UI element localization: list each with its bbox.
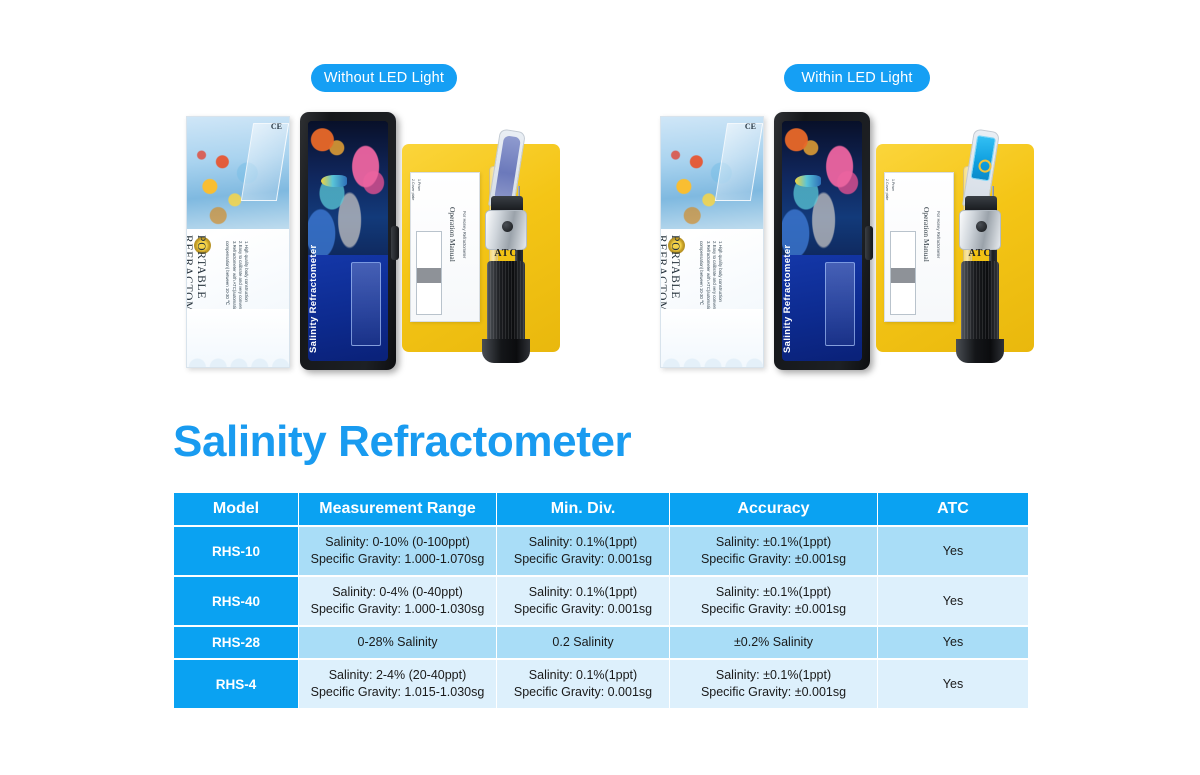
refractometer-device: ATC xyxy=(942,130,1016,370)
cell-min-div: 0.2 Salinity xyxy=(497,627,669,658)
cell-measurement-range: Salinity: 2-4% (20-40ppt) Specific Gravi… xyxy=(299,660,496,708)
case-latch-icon xyxy=(865,226,873,260)
cell-measurement-range: Salinity: 0-10% (0-100ppt) Specific Grav… xyxy=(299,527,496,575)
variant-badges-row: Without LED Light Within LED Light xyxy=(0,64,1200,94)
case-label-diagram xyxy=(351,262,381,346)
rubber-grip xyxy=(487,261,525,343)
manual-bullet-list: 1.Prism 2.Cover plate 3.Calibration scre… xyxy=(410,179,421,210)
reef-box-artwork xyxy=(187,117,290,229)
carry-case: Salinity Refractometer xyxy=(300,112,396,370)
case-label-text: Salinity Refractometer xyxy=(782,244,793,353)
manual-bullet-list: 1.Prism 2.Cover plate 3.Calibration scre… xyxy=(884,179,895,210)
eyepiece-base xyxy=(482,339,530,363)
manual-title: Operation Manual xyxy=(448,207,457,262)
specification-table: Model Measurement Range Min. Div. Accura… xyxy=(173,491,1029,710)
case-latch-icon xyxy=(391,226,399,260)
coral-reef-image xyxy=(308,121,388,255)
atc-marking: ATC xyxy=(485,248,527,259)
cell-atc: Yes xyxy=(878,627,1028,658)
eyepiece-base xyxy=(956,339,1004,363)
case-label-text: Salinity Refractometer xyxy=(308,244,319,353)
tropical-fish-icon xyxy=(795,175,821,187)
manual-diagram-icon xyxy=(416,231,442,315)
calibration-screw-icon xyxy=(976,221,987,232)
table-row: RHS-4 Salinity: 2-4% (20-40ppt) Specific… xyxy=(174,660,1028,708)
column-header-model: Model xyxy=(174,493,298,525)
retail-box: CE PORTABLE REFRACTOMETER 1.High quality… xyxy=(186,116,290,368)
reef-box-artwork xyxy=(661,117,764,229)
badge-within-led: Within LED Light xyxy=(784,64,930,92)
table-row: RHS-28 0-28% Salinity 0.2 Salinity ±0.2%… xyxy=(174,627,1028,658)
led-light-module-icon xyxy=(970,135,996,181)
table-row: RHS-40 Salinity: 0-4% (0-40ppt) Specific… xyxy=(174,577,1028,625)
product-photo-without-led: CE PORTABLE REFRACTOMETER 1.High quality… xyxy=(182,108,562,376)
case-label-panel: Salinity Refractometer xyxy=(782,255,862,361)
coral-reef-image xyxy=(782,121,862,255)
column-header-accuracy: Accuracy xyxy=(670,493,877,525)
manual-diagram-icon xyxy=(890,231,916,315)
box-wave-decoration xyxy=(661,309,764,367)
cell-accuracy: Salinity: ±0.1%(1ppt) Specific Gravity: … xyxy=(670,660,877,708)
tropical-fish-icon xyxy=(321,175,347,187)
table-row: RHS-10 Salinity: 0-10% (0-100ppt) Specif… xyxy=(174,527,1028,575)
calibration-collar xyxy=(959,210,1001,250)
manual-subtitle: For Honey Refractometer xyxy=(462,211,467,258)
manual-title: Operation Manual xyxy=(922,207,931,262)
cell-model: RHS-10 xyxy=(174,527,298,575)
cell-min-div: Salinity: 0.1%(1ppt) Specific Gravity: 0… xyxy=(497,577,669,625)
cell-measurement-range: 0-28% Salinity xyxy=(299,627,496,658)
cell-model: RHS-40 xyxy=(174,577,298,625)
badge-without-led: Without LED Light xyxy=(311,64,457,92)
carry-case: Salinity Refractometer xyxy=(774,112,870,370)
table-header-row: Model Measurement Range Min. Div. Accura… xyxy=(174,493,1028,525)
product-photo-with-led: CE PORTABLE REFRACTOMETER 1.High quality… xyxy=(656,108,1036,376)
rubber-grip xyxy=(961,261,999,343)
cell-atc: Yes xyxy=(878,660,1028,708)
ce-mark-icon: CE xyxy=(271,122,282,131)
cell-atc: Yes xyxy=(878,527,1028,575)
cell-min-div: Salinity: 0.1%(1ppt) Specific Gravity: 0… xyxy=(497,527,669,575)
daylight-plate xyxy=(495,135,521,199)
column-header-atc: ATC xyxy=(878,493,1028,525)
cell-model: RHS-28 xyxy=(174,627,298,658)
calibration-collar xyxy=(485,210,527,250)
atc-marking: ATC xyxy=(959,248,1001,259)
column-header-measurement-range: Measurement Range xyxy=(299,493,496,525)
page-title: Salinity Refractometer xyxy=(173,417,631,467)
cell-min-div: Salinity: 0.1%(1ppt) Specific Gravity: 0… xyxy=(497,660,669,708)
refractometer-device: ATC xyxy=(468,130,542,370)
cell-accuracy: Salinity: ±0.1%(1ppt) Specific Gravity: … xyxy=(670,577,877,625)
column-header-min-div: Min. Div. xyxy=(497,493,669,525)
retail-box: CE PORTABLE REFRACTOMETER 1.High quality… xyxy=(660,116,764,368)
cell-accuracy: ±0.2% Salinity xyxy=(670,627,877,658)
box-wave-decoration xyxy=(187,309,290,367)
cell-model: RHS-4 xyxy=(174,660,298,708)
case-label-diagram xyxy=(825,262,855,346)
cell-atc: Yes xyxy=(878,577,1028,625)
calibration-screw-icon xyxy=(502,221,513,232)
case-label-panel: Salinity Refractometer xyxy=(308,255,388,361)
cell-measurement-range: Salinity: 0-4% (0-40ppt) Specific Gravit… xyxy=(299,577,496,625)
manual-subtitle: For Honey Refractometer xyxy=(936,211,941,258)
ce-mark-icon: CE xyxy=(745,122,756,131)
cell-accuracy: Salinity: ±0.1%(1ppt) Specific Gravity: … xyxy=(670,527,877,575)
